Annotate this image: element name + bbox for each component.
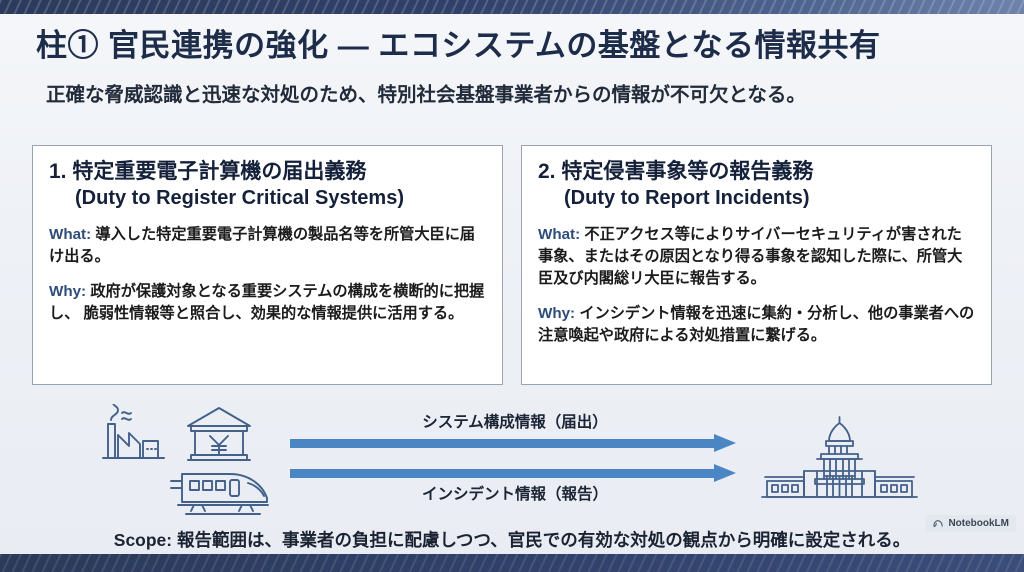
why-text: 政府が保護対象となる重要システムの構成を横断的に把握し、 脆弱性情報等と照合し、… <box>49 283 484 322</box>
why-label: Why: <box>49 283 86 300</box>
why-label: Why: <box>538 305 575 322</box>
page-subtitle: 正確な脅威認識と迅速な対処のため、特別社会基盤事業者からの情報が不可欠となる。 <box>46 78 1024 107</box>
notebooklm-watermark: NotebookLM <box>925 515 1016 532</box>
national-diet-building-icon <box>757 414 922 500</box>
notebooklm-icon <box>932 519 944 529</box>
arrow-top <box>290 435 740 451</box>
slide-canvas: 柱① 官民連携の強化 ― エコシステムの基盤となる情報共有 正確な脅威認識と迅速… <box>0 14 1024 554</box>
arrow-shaft <box>290 469 715 478</box>
scope-note: Scope: 報告範囲は、事業者の負担に配慮しつつ、官民での有効な対処の観点から… <box>0 527 1024 552</box>
bullet-train-icon <box>168 464 274 516</box>
card-2-heading-jp: 2. 特定侵害事象等の報告義務 <box>538 158 975 185</box>
arrow-bottom <box>290 465 740 481</box>
page-title: 柱① 官民連携の強化 ― エコシステムの基盤となる情報共有 <box>36 28 1024 64</box>
bottom-decorative-bar <box>0 554 1024 572</box>
what-text: 不正アクセス等によりサイバーセキュリティが害された事象、またはその原因となり得る… <box>538 226 962 287</box>
arrow-shaft <box>290 439 715 448</box>
why-text: インシデント情報を迅速に集約・分析し、他の事業者への注意喚起や政府による対処措置… <box>538 305 974 344</box>
card-1-body: What: 導入した特定重要電子計算機の製品名等を所管大臣に届け出る。 Why:… <box>49 224 486 325</box>
bank-yen-icon <box>180 402 258 468</box>
cards-container: 1. 特定重要電子計算機の届出義務 (Duty to Register Crit… <box>32 145 992 385</box>
arrow-head-icon <box>714 434 736 452</box>
card-2-why: Why: インシデント情報を迅速に集約・分析し、他の事業者への注意喚起や政府によ… <box>538 303 975 347</box>
what-label: What: <box>49 226 91 243</box>
arrow-top-label: システム構成情報（届出） <box>290 410 740 432</box>
card-2-body: What: 不正アクセス等によりサイバーセキュリティが害された事象、またはその原… <box>538 224 975 347</box>
factory-icon <box>98 404 168 466</box>
watermark-label: NotebookLM <box>948 518 1009 529</box>
arrow-head-icon <box>714 464 736 482</box>
what-text: 導入した特定重要電子計算機の製品名等を所管大臣に届け出る。 <box>49 226 475 265</box>
card-2-what: What: 不正アクセス等によりサイバーセキュリティが害された事象、またはその原… <box>538 224 975 290</box>
information-flow-diagram: システム構成情報（届出） インシデント情報（報告） <box>0 402 1024 522</box>
card-1-heading-en: (Duty to Register Critical Systems) <box>49 185 486 211</box>
card-1-what: What: 導入した特定重要電子計算機の製品名等を所管大臣に届け出る。 <box>49 224 486 268</box>
card-duty-to-report: 2. 特定侵害事象等の報告義務 (Duty to Report Incident… <box>521 145 992 385</box>
card-duty-to-register: 1. 特定重要電子計算機の届出義務 (Duty to Register Crit… <box>32 145 503 385</box>
what-label: What: <box>538 226 580 243</box>
arrow-bottom-label: インシデント情報（報告） <box>290 482 740 504</box>
card-1-heading-jp: 1. 特定重要電子計算機の届出義務 <box>49 158 486 185</box>
arrow-flow-group: システム構成情報（届出） インシデント情報（報告） <box>290 402 740 512</box>
top-decorative-bar <box>0 0 1024 14</box>
card-2-heading-en: (Duty to Report Incidents) <box>538 185 975 211</box>
card-1-why: Why: 政府が保護対象となる重要システムの構成を横断的に把握し、 脆弱性情報等… <box>49 281 486 325</box>
